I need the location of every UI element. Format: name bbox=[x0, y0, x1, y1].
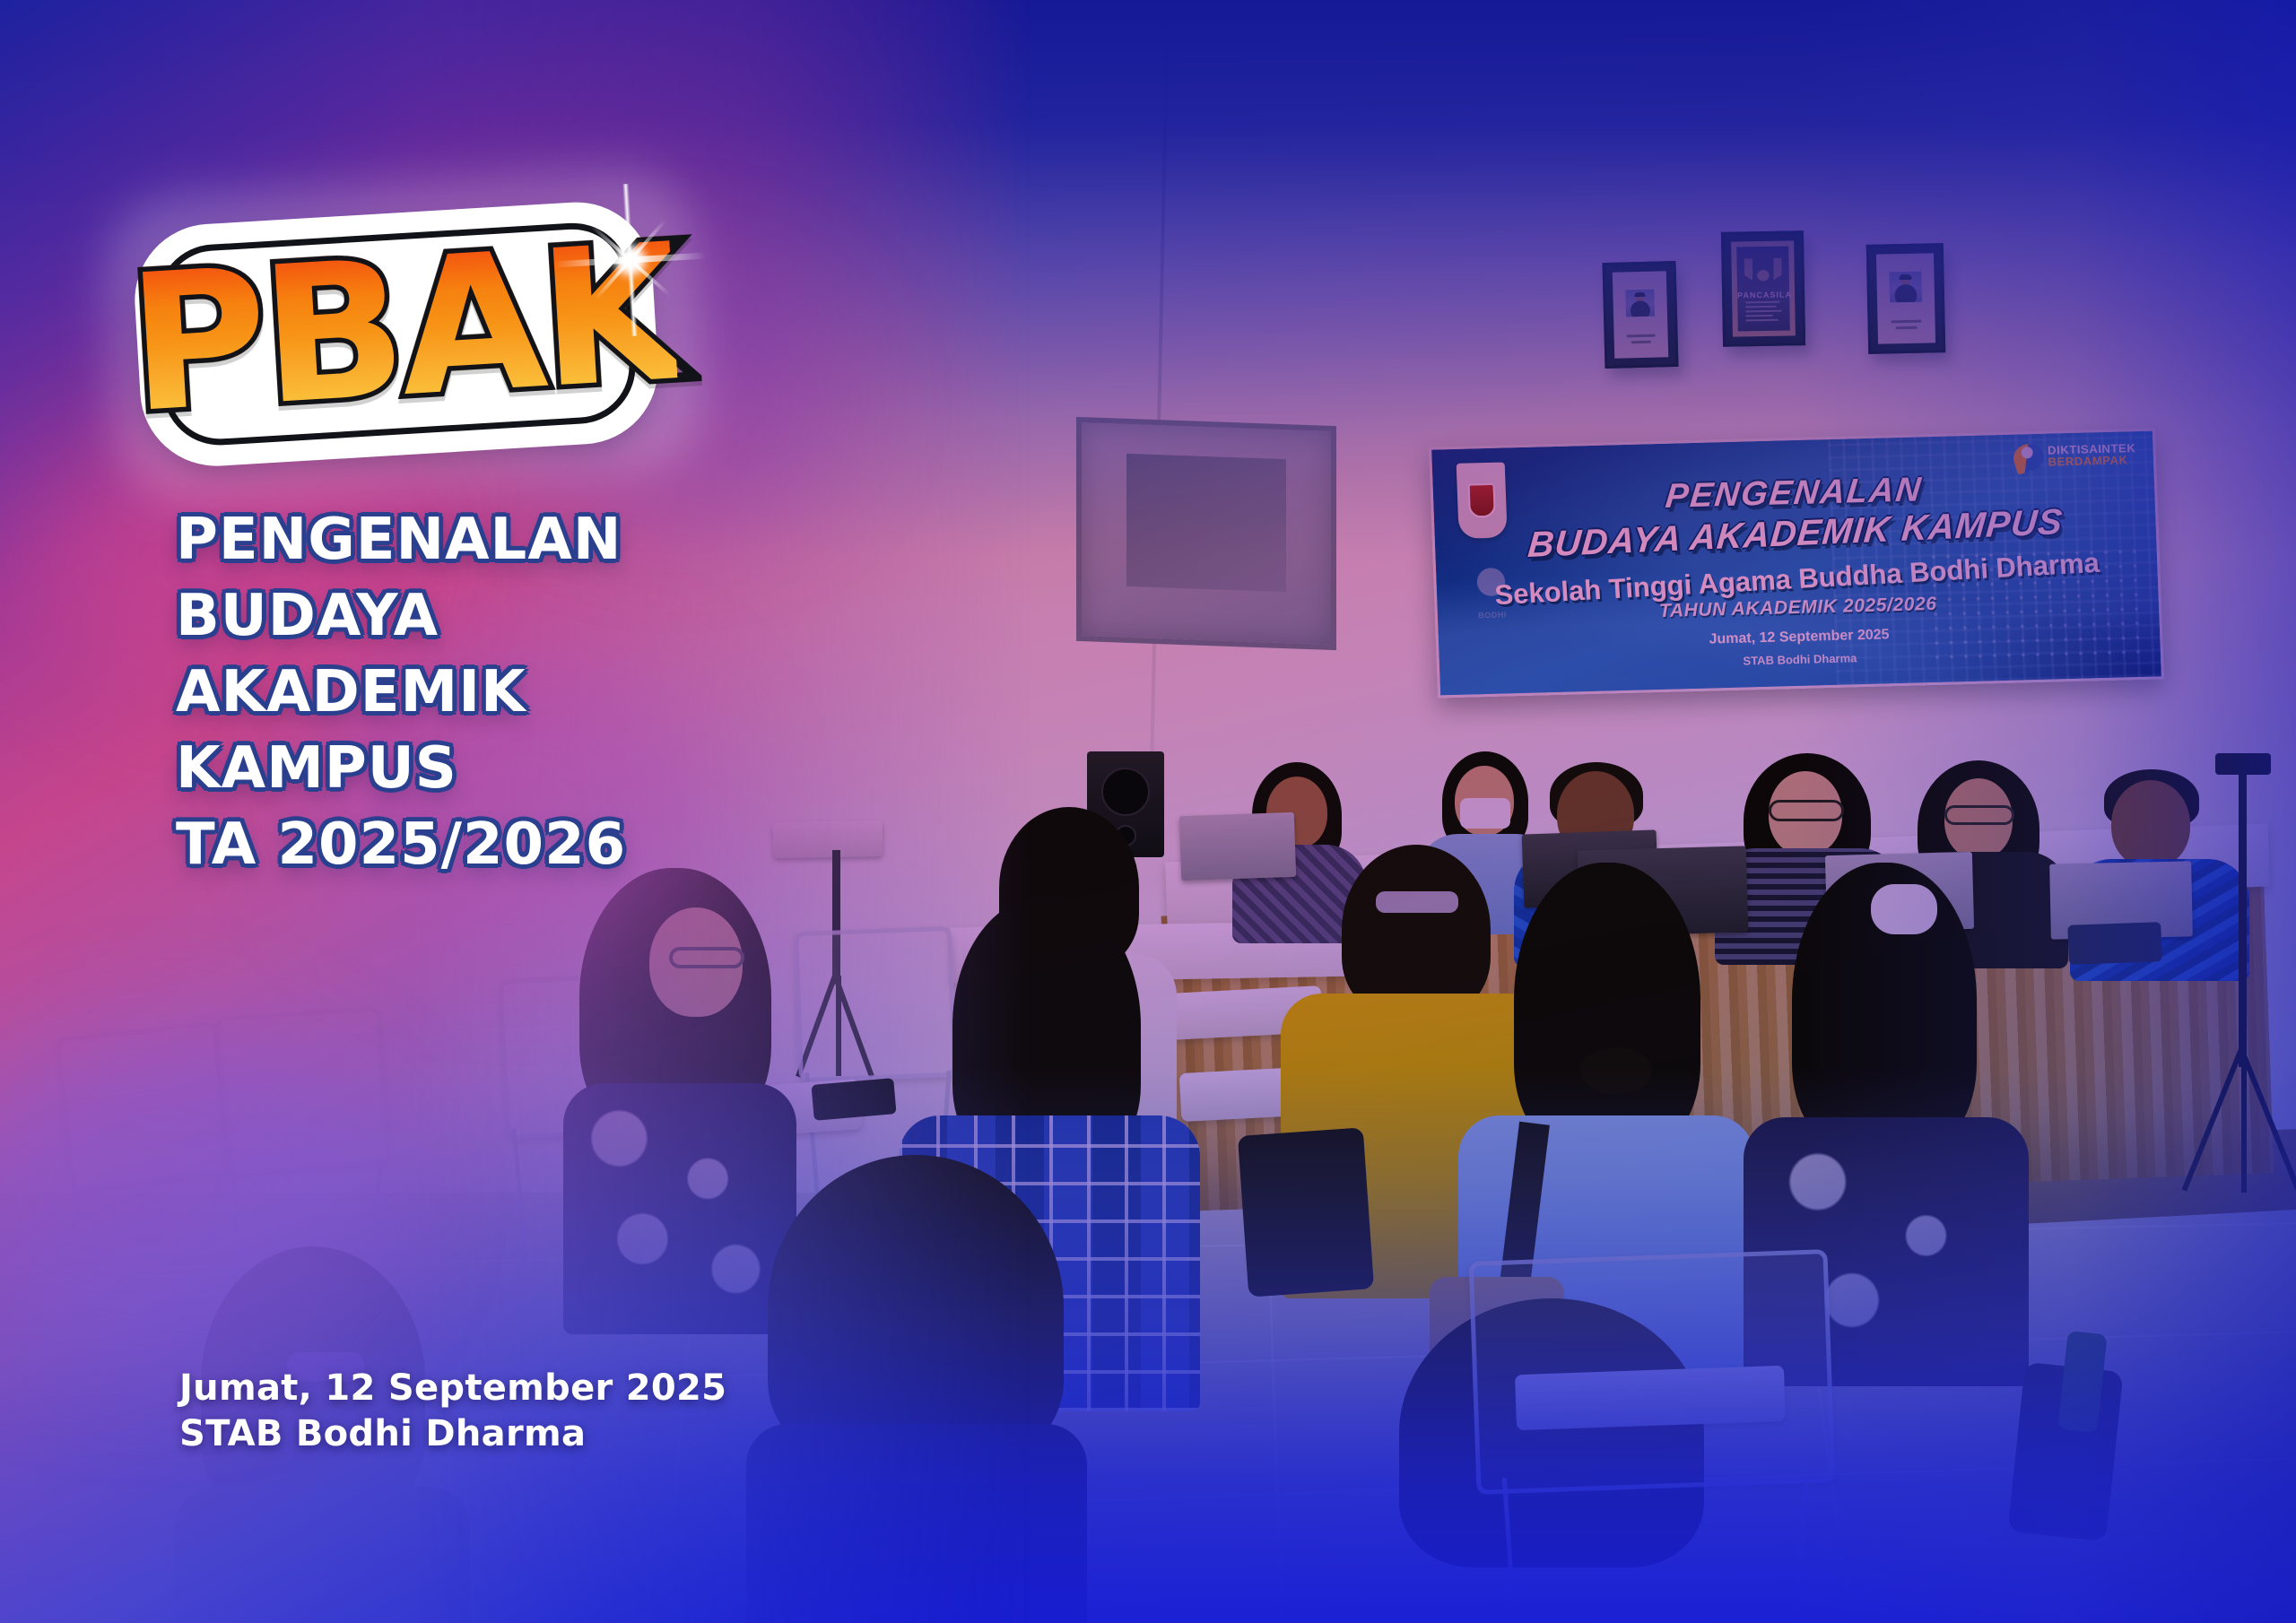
right-gradient-overlay bbox=[1794, 0, 2296, 1623]
pbak-logo: PBAK PBAK bbox=[129, 188, 682, 480]
headline-line-1: PENGENALAN bbox=[176, 502, 983, 578]
pbak-letters-stroke: PBAK bbox=[130, 201, 681, 456]
footer-venue: STAB Bodhi Dharma bbox=[179, 1411, 726, 1457]
headline-line-3: AKADEMIK bbox=[176, 655, 983, 731]
poster-headline: PENGENALAN BUDAYA AKADEMIK KAMPUS TA 202… bbox=[176, 502, 983, 884]
pbak-poster: PANCASILA BODHI bbox=[0, 0, 2296, 1623]
poster-footer: Jumat, 12 September 2025 STAB Bodhi Dhar… bbox=[179, 1366, 726, 1457]
headline-line-4: KAMPUS bbox=[176, 731, 983, 807]
headline-line-2: BUDAYA bbox=[176, 578, 983, 655]
headline-line-5: TA 2025/2026 bbox=[176, 807, 983, 883]
footer-date: Jumat, 12 September 2025 bbox=[179, 1366, 726, 1411]
